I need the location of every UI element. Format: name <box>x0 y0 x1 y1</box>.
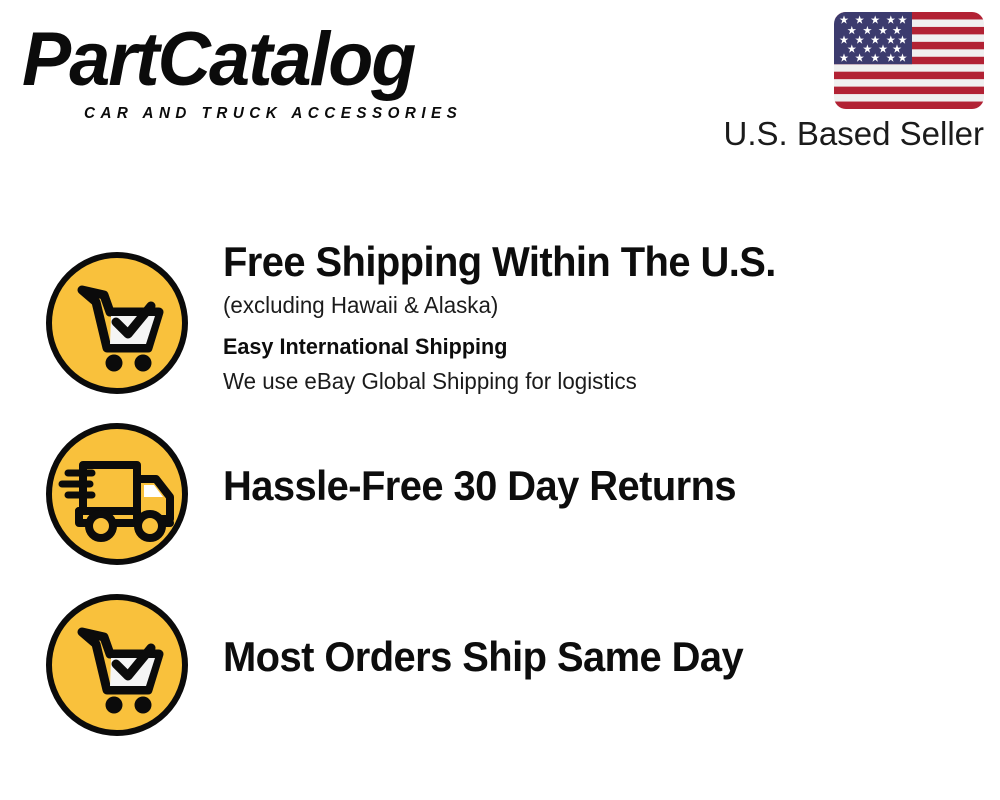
us-flag-icon <box>834 12 984 109</box>
feature-row: Hassle-Free 30 Day Returns <box>0 406 1000 577</box>
page-header: PartCatalog CAR AND TRUCK ACCESSORIES <box>0 0 1000 175</box>
feature-row: Free Shipping Within The U.S. (excluding… <box>0 235 1000 406</box>
feature-heading: Hassle-Free 30 Day Returns <box>223 462 945 510</box>
us-based-seller-label: U.S. Based Seller <box>694 115 984 153</box>
brand-logo[interactable]: PartCatalog CAR AND TRUCK ACCESSORIES <box>22 22 492 122</box>
feature-text-block: Hassle-Free 30 Day Returns <box>223 462 983 510</box>
feature-subtext: (excluding Hawaii & Alaska) <box>223 290 960 320</box>
feature-heading: Most Orders Ship Same Day <box>223 633 945 681</box>
cart-check-icon <box>44 592 190 738</box>
delivery-truck-icon <box>44 421 190 567</box>
feature-heading: Free Shipping Within The U.S. <box>223 238 945 286</box>
cart-check-icon <box>44 250 190 396</box>
feature-text-block: Most Orders Ship Same Day <box>223 633 983 681</box>
brand-wordmark: PartCatalog <box>22 22 414 98</box>
feature-list: Free Shipping Within The U.S. (excluding… <box>0 235 1000 748</box>
us-based-seller-badge: U.S. Based Seller <box>694 12 984 153</box>
feature-row: Most Orders Ship Same Day <box>0 577 1000 748</box>
brand-tagline: CAR AND TRUCK ACCESSORIES <box>84 106 462 122</box>
feature-text-block: Free Shipping Within The U.S. (excluding… <box>223 238 983 396</box>
feature-subtext-strong: Easy International Shipping <box>223 332 953 362</box>
feature-subtext-secondary: We use eBay Global Shipping for logistic… <box>223 366 960 396</box>
